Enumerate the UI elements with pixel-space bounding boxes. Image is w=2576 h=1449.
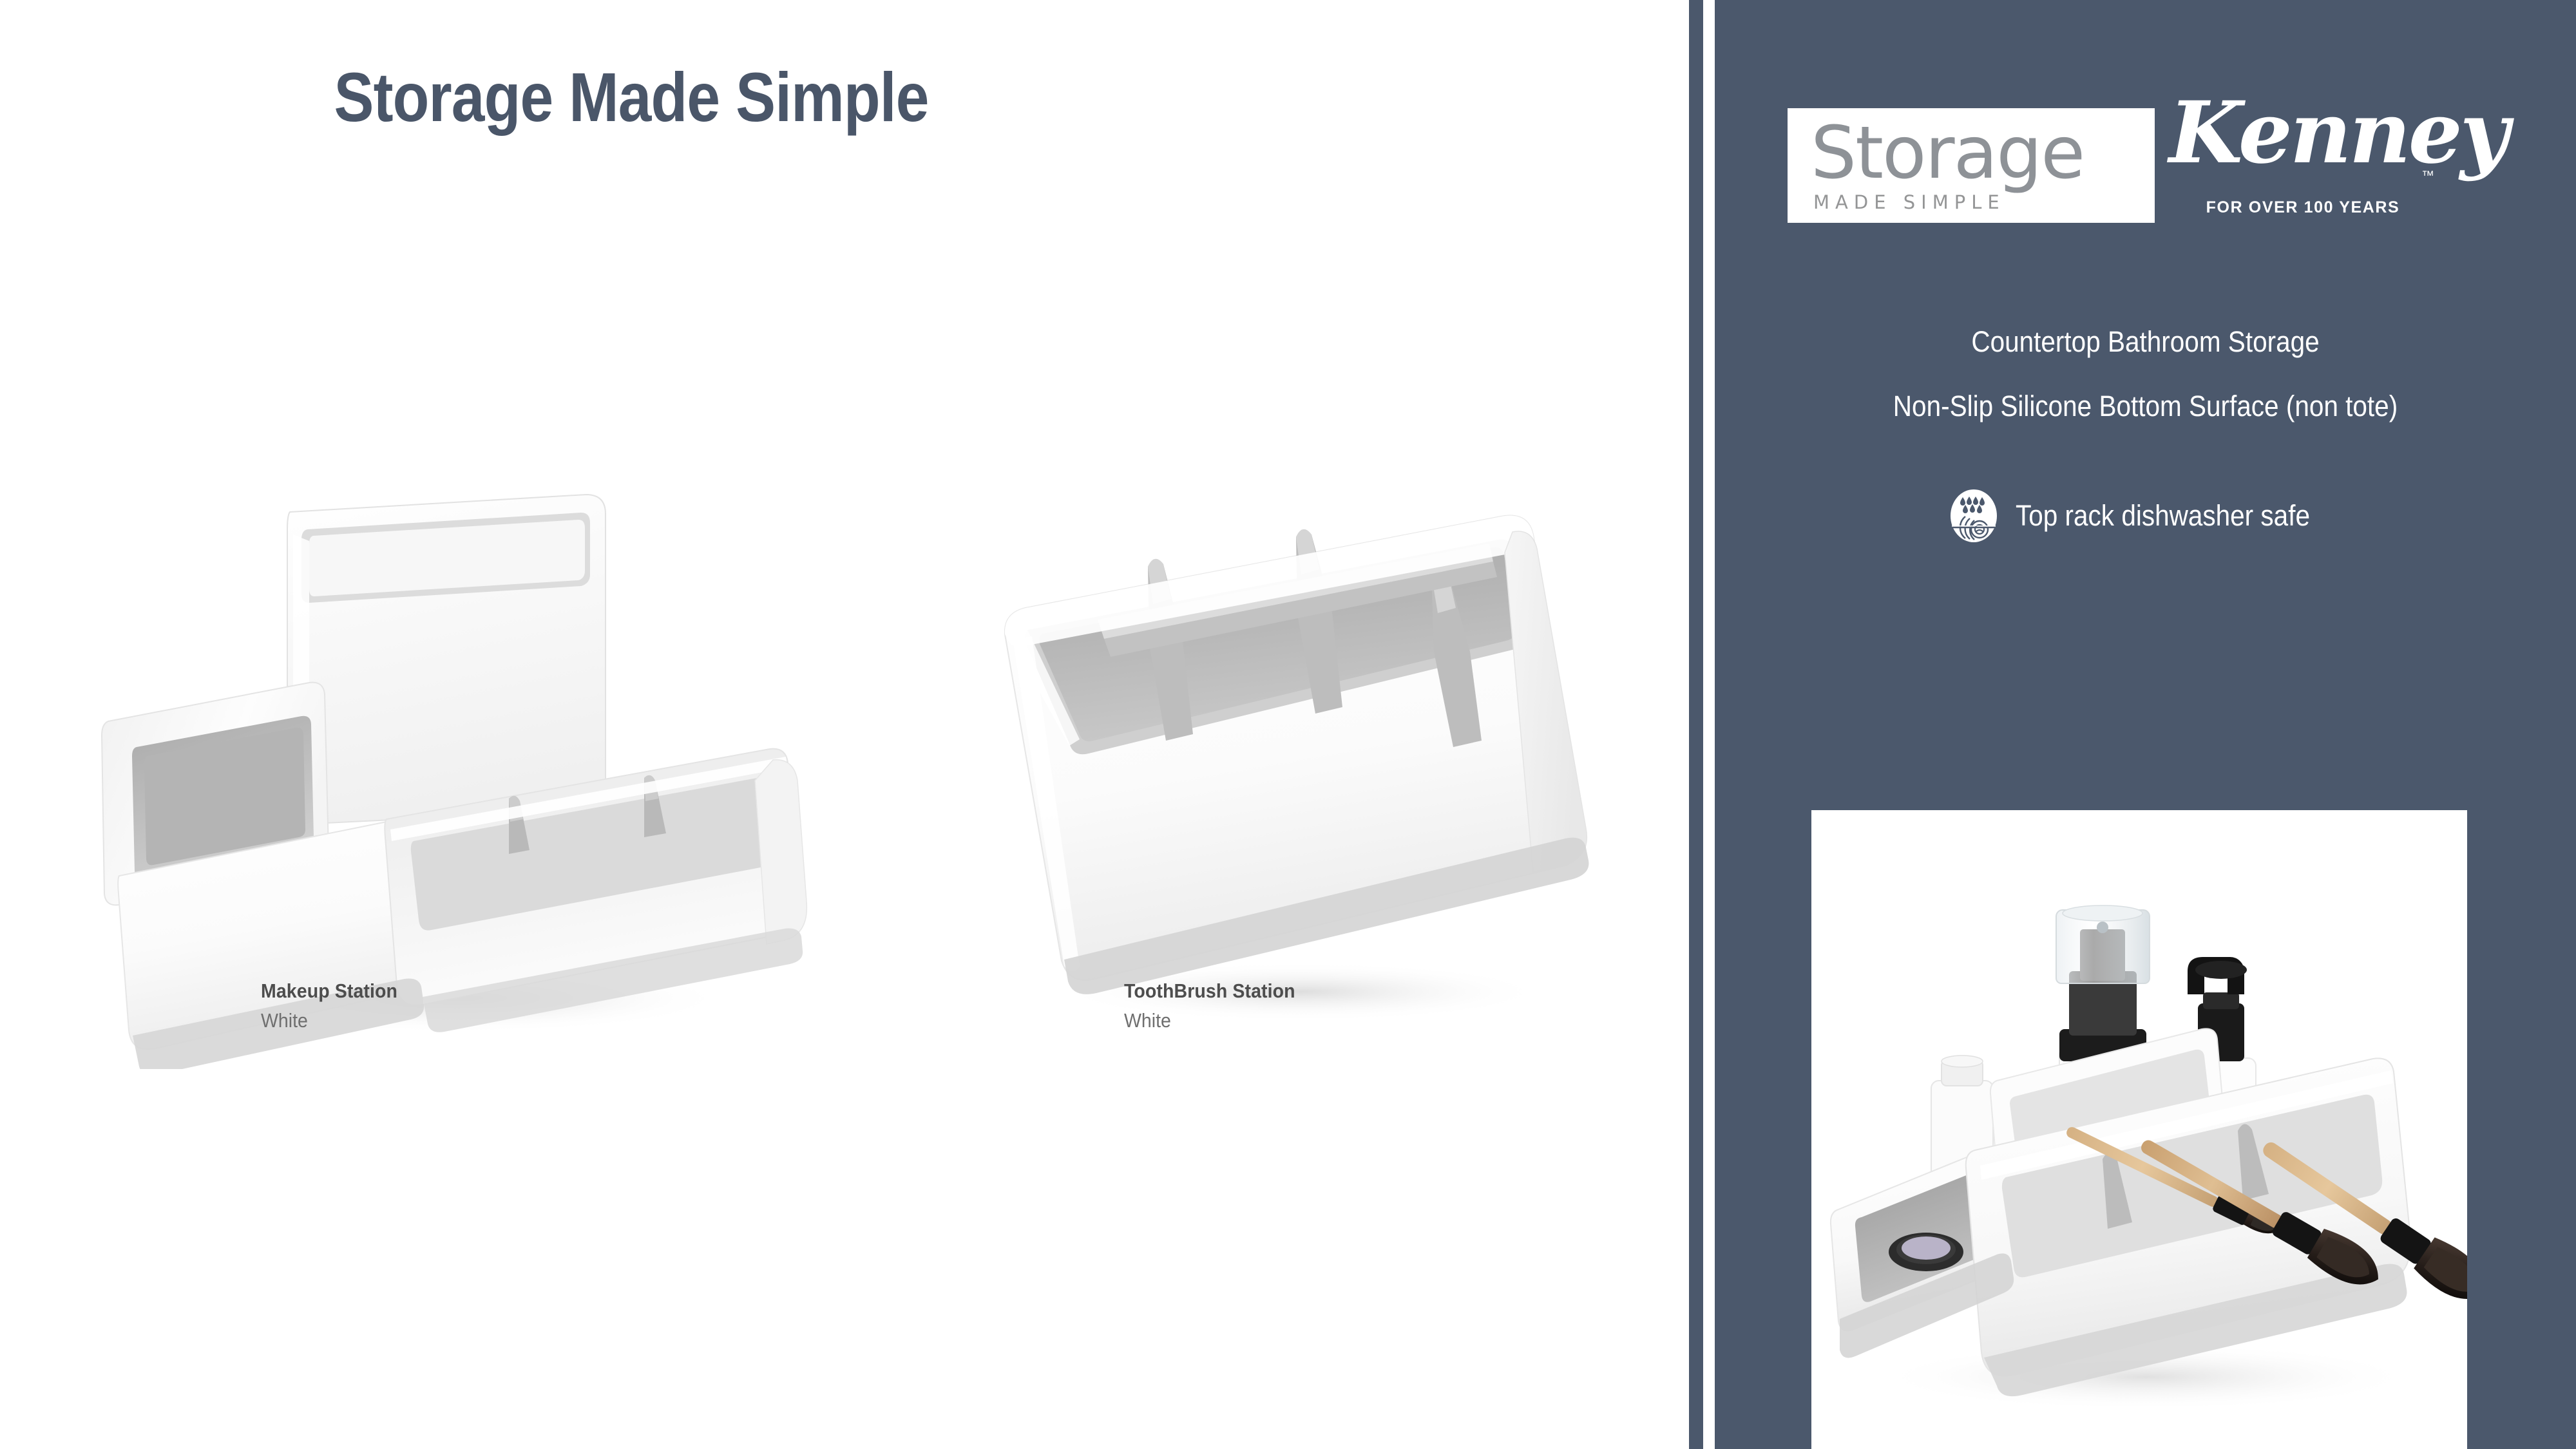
kenney-trademark-icon: ™ [2421, 169, 2434, 184]
product-name-makeup-station: Makeup Station [261, 979, 397, 1004]
lifestyle-photo [1811, 810, 2467, 1449]
storage-logo-wordmark: Storage [1811, 117, 2084, 189]
kenney-logo: Kenney ™ FOR OVER 100 YEARS [2169, 84, 2439, 225]
panel-divider-bar [1689, 0, 1703, 1449]
storage-made-simple-logo: Storage MADE SIMPLE [1788, 108, 2155, 223]
makeup-station-product-image [97, 489, 857, 1069]
kenney-logo-tagline: FOR OVER 100 YEARS [2193, 198, 2412, 217]
brand-info-panel: Storage MADE SIMPLE Kenney ™ FOR OVER 10… [1715, 0, 2576, 1449]
feature-line-non-slip-silicone: Non-Slip Silicone Bottom Surface (non to… [1758, 390, 2533, 423]
main-content-area: Storage Made Simple [0, 0, 1689, 1449]
kenney-logo-script: Kenney [2169, 80, 2439, 186]
panel-divider-gap [1703, 0, 1715, 1449]
product-name-toothbrush-station: ToothBrush Station [1124, 979, 1295, 1004]
product-card-makeup-station [97, 489, 857, 1069]
product-color-makeup-station: White [261, 1007, 397, 1036]
page-title: Storage Made Simple [88, 57, 1174, 137]
dishwasher-safe-row: Top rack dishwasher safe [1715, 488, 2576, 544]
product-color-toothbrush-station: White [1124, 1007, 1295, 1036]
product-caption-makeup-station: Makeup Station White [261, 979, 409, 1036]
feature-line-countertop-storage: Countertop Bathroom Storage [1758, 325, 2533, 359]
dishwasher-safe-label: Top rack dishwasher safe [2016, 499, 2310, 533]
dishwasher-safe-icon [1949, 488, 1999, 544]
storage-logo-subtitle: MADE SIMPLE [1813, 193, 2005, 212]
product-caption-toothbrush-station: ToothBrush Station White [1124, 979, 1310, 1036]
lifestyle-photo-image [1811, 810, 2467, 1449]
